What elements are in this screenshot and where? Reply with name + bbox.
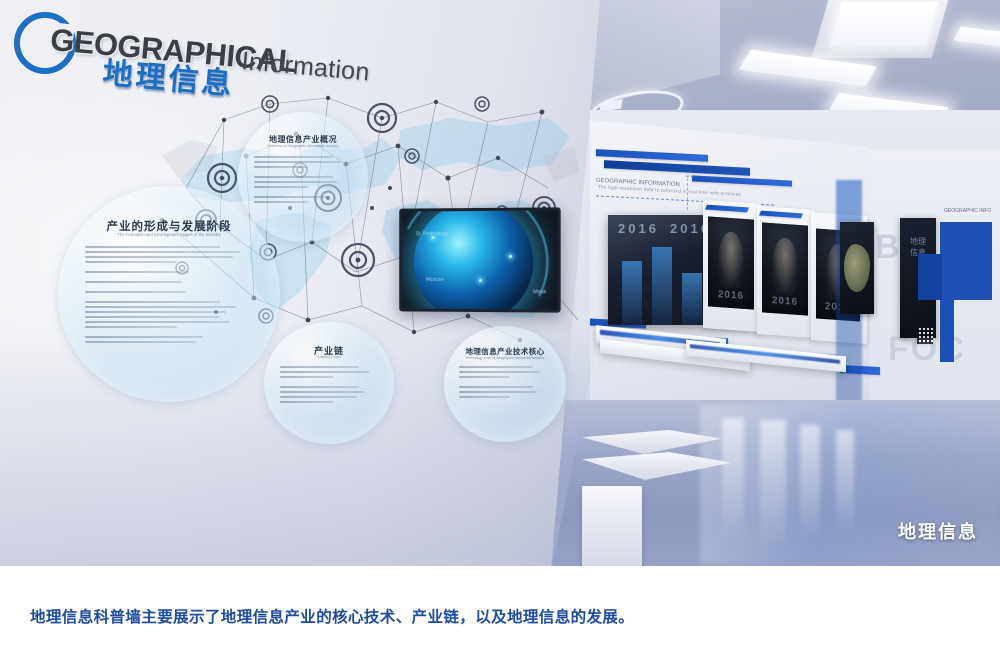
text-line [280, 366, 359, 368]
text-line [85, 326, 178, 328]
text-line [254, 161, 341, 163]
text-line [85, 291, 186, 293]
map-display-screen[interactable] [840, 222, 874, 314]
tv-label: St. Petersburg [416, 231, 447, 237]
text-line [280, 396, 357, 398]
text-line [459, 386, 533, 388]
text-line [85, 306, 237, 308]
info-circle-industry-chain[interactable]: 产业链 Industry Chain [264, 322, 394, 444]
text-line [85, 336, 203, 338]
map-point [479, 279, 482, 282]
tv-label: Moscow [426, 277, 444, 283]
exhibition-photo: BU FOC GEOGRAPHIC INFORMATION The high-r… [0, 0, 1000, 566]
text-line [85, 261, 178, 263]
display-bar [652, 247, 672, 325]
text-line [85, 246, 220, 248]
circle-subtitle: Technology Core of Geographic Informatio… [444, 356, 566, 360]
globe-arc [399, 207, 560, 312]
text-line [459, 396, 510, 398]
text-line [85, 271, 190, 273]
text-line [254, 156, 333, 158]
text-line [280, 386, 359, 388]
page-root: BU FOC GEOGRAPHIC INFORMATION The high-r… [0, 0, 1000, 666]
tv-label: Minsk [533, 289, 546, 295]
text-line [254, 201, 308, 203]
portrait-year: 2016 [762, 294, 808, 308]
text-line [459, 391, 537, 393]
display-bar [622, 261, 642, 325]
floor-reflection [800, 425, 820, 543]
floor-reflection [760, 420, 786, 550]
text-line [85, 256, 233, 258]
caption-bar: 地理信息科普墙主要展示了地理信息产业的核心技术、产业链，以及地理信息的发展。 [0, 566, 1000, 666]
accent-block [940, 222, 992, 300]
text-line [459, 371, 541, 373]
circle-subtitle: Industry Chain [264, 355, 394, 359]
text-line [280, 401, 334, 403]
panel-micro-text: GEOGRAPHIC INFO [944, 208, 991, 214]
floor-reflection [722, 418, 744, 542]
circle-subtitle: Overview of Geographic Information Indus… [238, 144, 368, 148]
wall-tv-screen[interactable]: St. Petersburg Moscow Minsk Kiev [399, 207, 560, 312]
text-line [254, 186, 308, 188]
caption-text: 地理信息科普墙主要展示了地理信息产业的核心技术、产业链，以及地理信息的发展。 [30, 605, 634, 627]
ceiling-light-panel [830, 2, 939, 46]
text-line [85, 321, 230, 323]
text-line [85, 301, 220, 303]
info-circle-formation-stages[interactable]: 产业的形成与发展阶段 The Formation and Development… [58, 186, 280, 402]
info-circle-tech-core[interactable]: 地理信息产业技术核心 Technology Core of Geographic… [444, 326, 566, 442]
text-line [85, 281, 183, 283]
person-photo [772, 237, 798, 295]
map-graphic [844, 244, 870, 292]
text-line [85, 311, 227, 313]
display-bar [682, 273, 702, 325]
text-line [254, 181, 337, 183]
text-line [254, 166, 308, 168]
display-counter-number: 2016 [618, 221, 659, 236]
image-watermark: 地理信息 [898, 518, 978, 544]
portrait-panel[interactable]: 2016 [762, 222, 808, 315]
text-line [280, 391, 365, 393]
text-line [85, 316, 220, 318]
floor-step [582, 486, 642, 566]
map-point [509, 255, 512, 258]
text-line [459, 366, 533, 368]
tv-label: Kiev [457, 241, 467, 247]
text-line [459, 376, 510, 378]
accent-block [918, 254, 942, 300]
text-line [85, 341, 196, 343]
text-line [280, 376, 334, 378]
text-line [254, 176, 333, 178]
portrait-panel[interactable]: 2016 [708, 216, 754, 309]
circle-subtitle: The Formation and Development Stages of … [58, 232, 280, 237]
floor-reflection [836, 430, 854, 534]
text-line [254, 196, 329, 198]
text-line [280, 371, 369, 373]
text-line [85, 251, 240, 253]
accent-block [940, 300, 954, 362]
portrait-year: 2016 [708, 288, 754, 302]
person-photo [718, 231, 744, 289]
qr-code-icon[interactable] [917, 328, 933, 344]
